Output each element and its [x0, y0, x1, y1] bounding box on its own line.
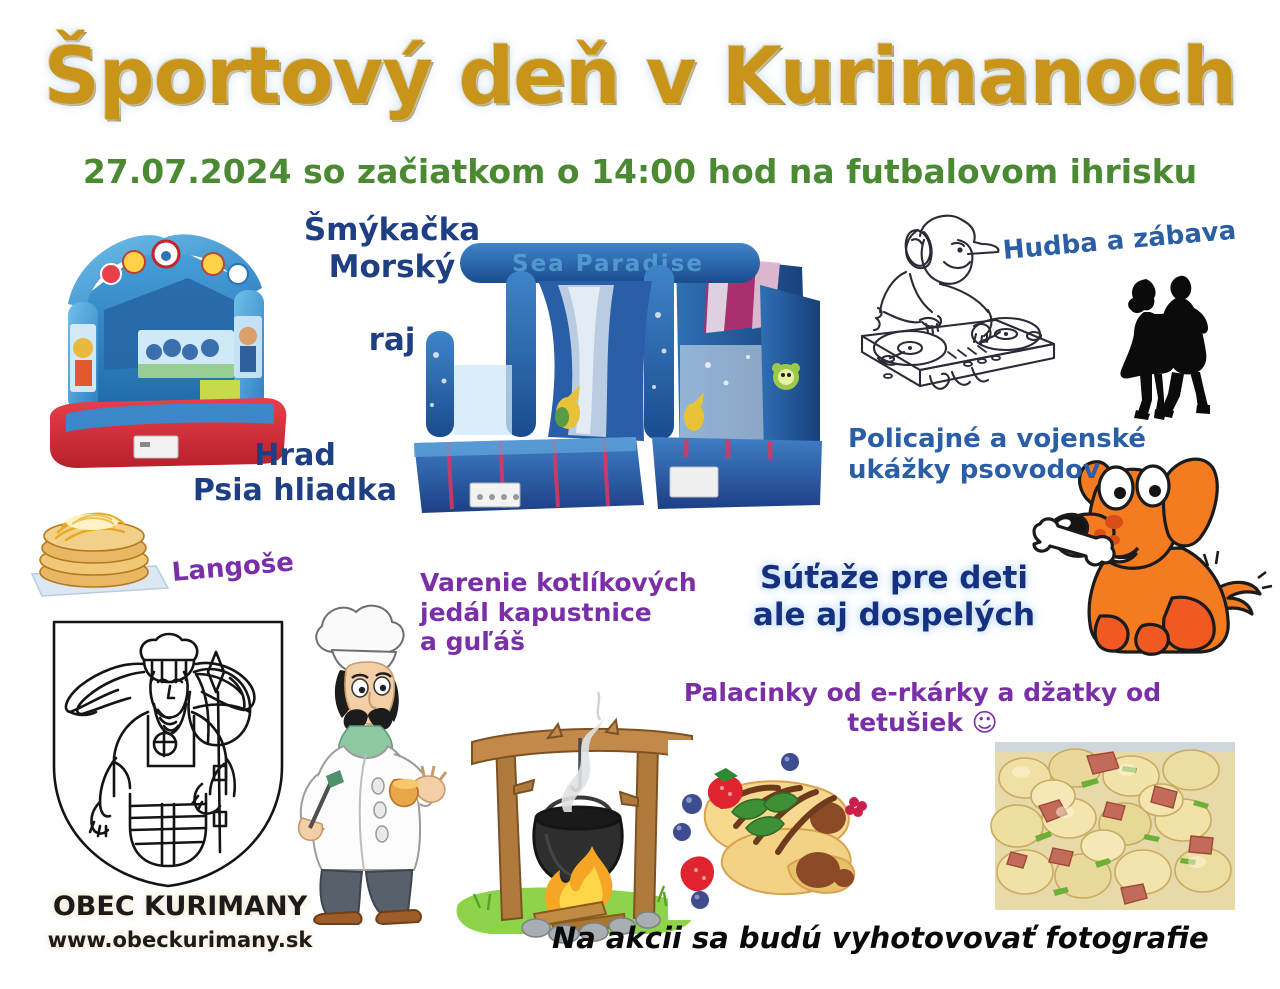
- photo-notice: Na akcii sa budú vyhotovovať fotografie: [552, 921, 1264, 955]
- label-smykacka: Šmýkačka Morský raj: [292, 212, 492, 358]
- label-sutaze: Súťaže pre deti ale aj dospelých: [744, 560, 1044, 633]
- dj-illustration: [848, 200, 1063, 400]
- label-policajne-line1: Policajné a vojenské: [848, 424, 1146, 454]
- label-palacinky: Palacinky od e-rkárky a džatky od tetuši…: [645, 678, 1200, 737]
- label-palacinky-line2: tetušiek ☺: [847, 708, 997, 737]
- event-datetime-subtitle: 27.07.2024 so začiatkom o 14:00 hod na f…: [0, 152, 1280, 191]
- label-smykacka-line3: raj: [292, 322, 492, 359]
- coat-of-arms: [44, 616, 292, 892]
- label-varenie-line1: Varenie kotlíkových: [420, 568, 697, 597]
- dancing-couple-silhouette: [1098, 268, 1228, 420]
- label-sutaze-line1: Súťaže pre deti: [760, 560, 1028, 596]
- label-policajne-ukazky: Policajné a vojenské ukážky psovodov: [848, 424, 1188, 485]
- label-varenie-line3: a guľáš: [420, 627, 525, 656]
- label-smykacka-line1: Šmýkačka: [304, 212, 480, 248]
- potato-dish-photo: [995, 742, 1235, 910]
- label-hrad-line1: Hrad: [254, 438, 336, 473]
- page-title: Športový deň v Kurimanoch: [0, 32, 1280, 122]
- poster-canvas: Športový deň v Kurimanoch 27.07.2024 so …: [0, 0, 1280, 989]
- label-varenie-line2: jedál kapustnice: [420, 598, 652, 627]
- label-smykacka-line2: Morský: [292, 249, 492, 286]
- langos-image: [22, 496, 172, 604]
- municipality-name: OBEC KURIMANY: [30, 891, 330, 923]
- label-policajne-line2: ukážky psovodov: [848, 455, 1100, 485]
- label-varenie: Varenie kotlíkových jedál kapustnice a g…: [420, 568, 730, 657]
- municipality-website[interactable]: www.obeckurimany.sk: [30, 928, 330, 953]
- label-hrad-line2: Psia hliadka: [193, 473, 397, 508]
- label-langose: Langoše: [171, 547, 295, 588]
- crepes-photo: [668, 740, 918, 920]
- svg-text:Sea Paradise: Sea Paradise: [512, 251, 704, 277]
- label-palacinky-line1: Palacinky od e-rkárky a džatky od: [684, 678, 1161, 707]
- label-sutaze-line2: ale aj dospelých: [753, 597, 1035, 633]
- label-hrad: Hrad Psia hliadka: [180, 438, 410, 509]
